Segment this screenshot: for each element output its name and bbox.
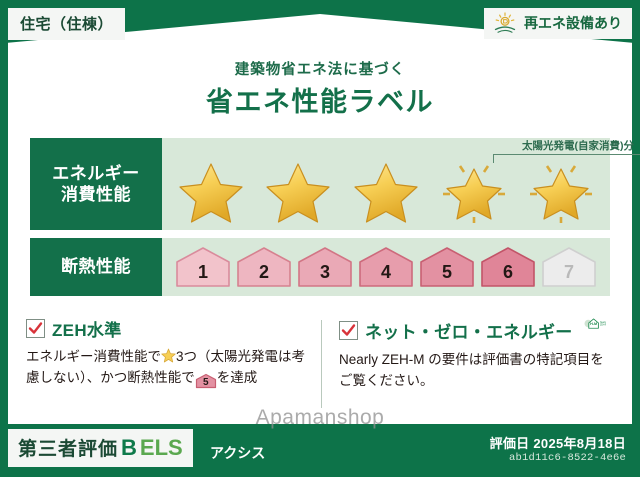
insulation-grade-6: 6 [479,245,537,289]
renewable-equipment-label: 再エネ設備あり [524,13,622,33]
evaluation-id: ab1d11c6-8522-4e6e [509,452,626,464]
insulation-performance-label-box: 断熱性能 [30,238,162,296]
energy-performance-row: エネルギー 消費性能 太陽光発電(自家消費)分 [30,138,610,230]
energy-performance-label-box: エネルギー 消費性能 [30,138,162,230]
dwelling-type-tag: 住宅（住棟） [8,8,125,40]
house-shape-icon: 5 [195,373,217,389]
insulation-grade-scale: 1 2 3 4 [162,238,610,296]
evaluation-date: 評価日 2025年8月18日 [490,433,626,452]
dwelling-type-label: 住宅（住棟） [20,13,113,34]
svg-text:ZEH-M: ZEH-M [600,325,606,327]
claim-zeh-body: エネルギー消費性能で3つ（太陽光発電は考慮しない）、かつ断熱性能で5を達成 [26,347,311,389]
insulation-performance-panel: 1 2 3 4 [162,238,610,296]
insulation-grade-7: 7 [540,245,598,289]
insulation-performance-row: 断熱性能 1 2 [30,238,610,296]
third-party-eval-label: 第三者評価 [18,434,118,461]
svg-text:H-M: H-M [590,322,597,326]
grade-number: 2 [259,263,269,289]
renewable-equipment-tag: 再エネ設備あり [484,8,632,39]
grade-number: 5 [442,263,452,289]
star-icon [176,160,246,226]
solar-contribution-annotation: 太陽光発電(自家消費)分 [480,138,640,163]
check-icon [339,321,358,340]
claim-nze-title: ネット・ゼロ・エネルギー [365,318,573,343]
star-3 [343,138,429,226]
star-icon-solar [439,160,509,226]
sun-renewable-icon [492,12,518,34]
star-icon-solar [526,160,596,226]
claim-zeh-header: ZEH水準 [26,316,311,341]
insulation-grade-3: 3 [296,245,354,289]
footer-bar: 第三者評価 B ELS アクシス 評価日 2025年8月18日 ab1d11c6… [0,423,640,477]
svg-text:Nearly: Nearly [600,321,606,324]
nearly-zeh-m-logo: H-M Nearly ZEH-M [584,316,606,344]
claim-nze-body: Nearly ZEH-M の要件は評価書の特記項目をご覧ください。 [339,350,606,392]
insulation-grade-2: 2 [235,245,293,289]
check-icon [26,319,45,338]
grade-number: 4 [381,263,391,289]
solar-contribution-bracket [493,154,640,163]
label-title: 省エネ性能ラベル [0,80,640,119]
grade-number: 3 [320,263,330,289]
insulation-grade-5: 5 [418,245,476,289]
star-icon [161,348,176,363]
claim-net-zero-energy: ネット・ゼロ・エネルギー H-M Nearly ZEH-M Nearly ZEH… [321,316,616,414]
star-icon [263,160,333,226]
brand-name: アクシス [210,443,265,463]
grade-number: 7 [564,263,574,289]
insulation-grade-4: 4 [357,245,415,289]
claims-section: ZEH水準 エネルギー消費性能で3つ（太陽光発電は考慮しない）、かつ断熱性能で5… [26,316,616,414]
energy-performance-label: 住宅（住棟） 再エネ設備あり 建築物省エネ法に基づく 省エネ性能ラベル [0,0,640,477]
insulation-label: 断熱性能 [61,256,131,277]
label-subtitle: 建築物省エネ法に基づく [0,58,640,79]
claim-nze-header: ネット・ゼロ・エネルギー H-M Nearly ZEH-M [339,316,606,344]
star-2 [256,138,342,226]
grade-number: 1 [198,263,208,289]
energy-label-line1: エネルギー [52,163,140,184]
solar-contribution-label: 太陽光発電(自家消費)分 [480,138,640,153]
bels-logo-b: B [121,435,137,461]
star-icon [351,160,421,226]
grade-number: 6 [503,263,513,289]
claim-zeh-text-1: エネルギー消費性能で [26,349,161,364]
energy-label-line2: 消費性能 [61,184,131,205]
claim-zeh-title: ZEH水準 [52,316,122,341]
claim-zeh-grade: 5 [195,373,217,393]
bels-logo-els: ELS [140,435,183,461]
bels-certification-box: 第三者評価 B ELS [8,429,193,467]
claim-zeh-text-3: を達成 [217,370,258,385]
insulation-grade-1: 1 [174,245,232,289]
energy-performance-panel: 太陽光発電(自家消費)分 [162,138,610,230]
star-1 [168,138,254,226]
claim-zeh-standard: ZEH水準 エネルギー消費性能で3つ（太陽光発電は考慮しない）、かつ断熱性能で5… [26,316,321,414]
